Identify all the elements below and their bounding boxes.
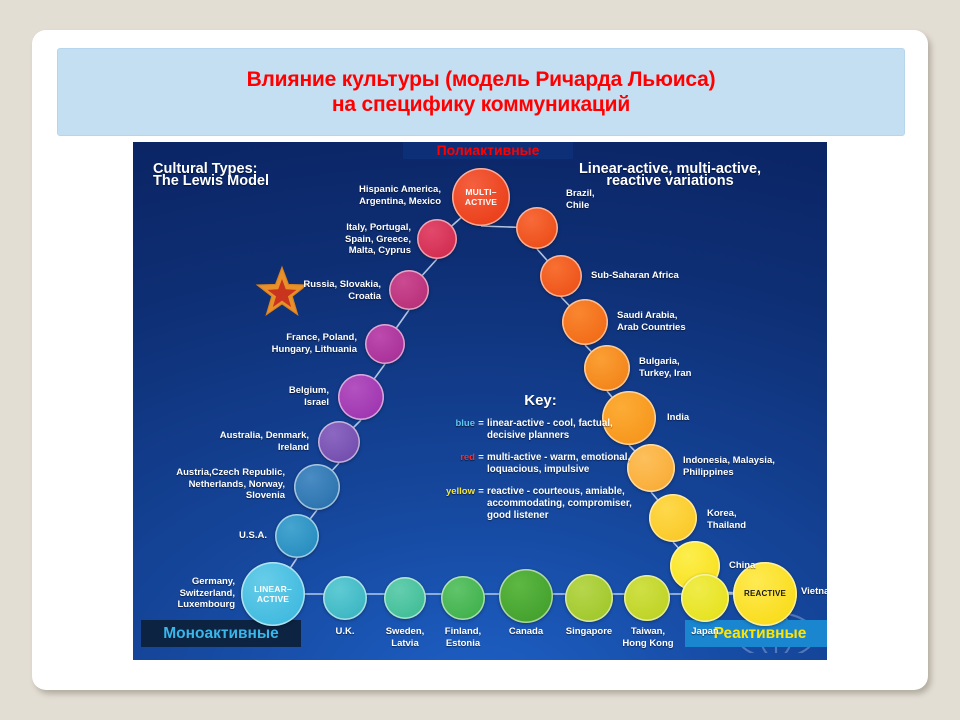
label-usa: U.S.A. bbox=[181, 530, 267, 542]
diagram-heading-left: Cultural Types: The Lewis Model bbox=[153, 164, 269, 187]
key-term-blue: blue bbox=[423, 418, 475, 442]
key-definition-yellow: reactive - courteous, amiable, accommoda… bbox=[487, 486, 632, 522]
label-uk: U.K. bbox=[315, 626, 375, 638]
badge-polyactive: Полиактивные bbox=[403, 142, 573, 159]
node-canada[interactable] bbox=[499, 569, 553, 623]
node-reactive[interactable]: REACTIVE bbox=[733, 562, 797, 626]
key-title: Key: bbox=[423, 392, 658, 409]
label-canada: Canada bbox=[494, 626, 558, 638]
label-hispanic-america: Hispanic America, Argentina, Mexico bbox=[311, 184, 441, 207]
key-equals-yellow: = bbox=[475, 486, 487, 522]
label-taiwan-hongkong: Taiwan, Hong Kong bbox=[613, 626, 683, 649]
node-sub-saharan-africa[interactable] bbox=[540, 255, 582, 297]
node-bulgaria-turkey-iran[interactable] bbox=[584, 345, 630, 391]
label-austria-czech: Austria,Czech Republic, Netherlands, Nor… bbox=[141, 467, 285, 502]
label-sub-saharan: Sub-Saharan Africa bbox=[591, 270, 723, 282]
label-indonesia-malaysia: Indonesia, Malaysia, Philippines bbox=[683, 455, 815, 478]
key-equals-blue: = bbox=[475, 418, 487, 442]
node-multi-active[interactable]: MULTI– ACTIVE bbox=[452, 168, 510, 226]
slide-card: Влияние культуры (модель Ричарда Льюиса)… bbox=[32, 30, 928, 690]
slide-title-box: Влияние культуры (модель Ричарда Льюиса)… bbox=[57, 48, 905, 136]
key-term-yellow: yellow bbox=[423, 486, 475, 522]
node-linear-active[interactable]: LINEAR– ACTIVE bbox=[241, 562, 305, 626]
lewis-model-diagram: Cultural Types: The Lewis Model Linear-a… bbox=[133, 142, 827, 660]
node-singapore[interactable] bbox=[565, 574, 613, 622]
node-taiwan-hongkong[interactable] bbox=[624, 575, 670, 621]
key-row-blue: blue = linear-active - cool, factual, de… bbox=[423, 418, 658, 442]
label-india: India bbox=[667, 412, 747, 424]
key-row-red: red = multi-active - warm, emotional, lo… bbox=[423, 452, 658, 476]
node-brazil-chile[interactable] bbox=[516, 207, 558, 249]
node-belgium-israel[interactable] bbox=[338, 374, 384, 420]
label-china: China bbox=[729, 560, 809, 572]
node-australia-denmark[interactable] bbox=[318, 421, 360, 463]
node-usa[interactable] bbox=[275, 514, 319, 558]
node-japan[interactable] bbox=[681, 574, 729, 622]
key-legend: Key: blue = linear-active - cool, factua… bbox=[423, 392, 658, 532]
node-sweden-latvia[interactable] bbox=[384, 577, 426, 619]
label-australia-denmark: Australia, Denmark, Ireland bbox=[181, 430, 309, 453]
label-korea-thailand: Korea, Thailand bbox=[707, 508, 801, 531]
key-equals-red: = bbox=[475, 452, 487, 476]
page-title-line-2: на специфику коммуникаций bbox=[332, 92, 630, 117]
node-austria-czech[interactable] bbox=[294, 464, 340, 510]
label-france-poland: France, Poland, Hungary, Lithuania bbox=[229, 332, 357, 355]
page-title-line-1: Влияние культуры (модель Ричарда Льюиса) bbox=[247, 67, 716, 92]
node-russia-slovakia[interactable] bbox=[389, 270, 429, 310]
label-russia-slovakia: Russia, Slovakia, Croatia bbox=[273, 279, 381, 302]
node-saudi-arabia[interactable] bbox=[562, 299, 608, 345]
key-definition-red: multi-active - warm, emotional, loquacio… bbox=[487, 452, 630, 476]
label-saudi-arabia: Saudi Arabia, Arab Countries bbox=[617, 310, 733, 333]
label-italy-portugal: Italy, Portugal, Spain, Greece, Malta, C… bbox=[303, 222, 411, 257]
key-term-red: red bbox=[423, 452, 475, 476]
label-vietnam: Vietnam bbox=[801, 586, 827, 598]
node-france-poland[interactable] bbox=[365, 324, 405, 364]
diagram-heading-right: Linear-active, multi-active, reactive va… bbox=[525, 164, 815, 187]
label-belgium-israel: Belgium, Israel bbox=[241, 385, 329, 408]
node-uk[interactable] bbox=[323, 576, 367, 620]
label-brazil-chile: Brazil, Chile bbox=[566, 188, 644, 211]
label-finland-estonia: Finland, Estonia bbox=[429, 626, 497, 649]
node-italy-portugal[interactable] bbox=[417, 219, 457, 259]
label-bulgaria-turkey: Bulgaria, Turkey, Iran bbox=[639, 356, 745, 379]
label-japan: Japan bbox=[677, 626, 733, 638]
key-definition-blue: linear-active - cool, factual, decisive … bbox=[487, 418, 613, 442]
label-germany-switzerland: Germany, Switzerland, Luxembourg bbox=[141, 576, 235, 611]
node-finland-estonia[interactable] bbox=[441, 576, 485, 620]
key-row-yellow: yellow = reactive - courteous, amiable, … bbox=[423, 486, 658, 522]
